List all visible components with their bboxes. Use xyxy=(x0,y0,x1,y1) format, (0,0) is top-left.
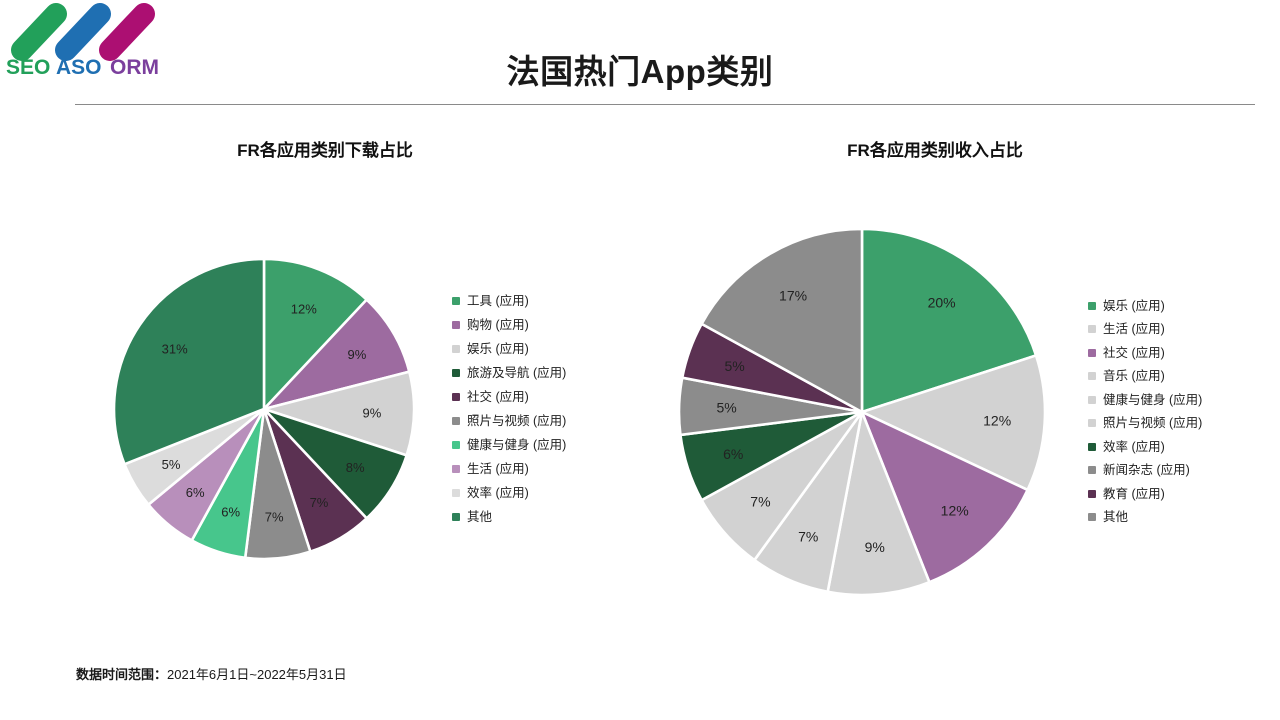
legend-swatch-icon xyxy=(1088,513,1096,521)
legend-swatch-icon xyxy=(452,441,460,449)
legend-item[interactable]: 教育 (应用) xyxy=(1088,482,1202,506)
legend-item[interactable]: 生活 (应用) xyxy=(1088,318,1202,342)
pie-slice-label: 8% xyxy=(346,460,365,475)
legend-item-label: 工具 (应用) xyxy=(467,295,529,308)
legend-item[interactable]: 生活 (应用) xyxy=(452,457,566,481)
legend-swatch-icon xyxy=(1088,372,1096,380)
legend-swatch-icon xyxy=(1088,419,1096,427)
page-title: 法国热门App类别 xyxy=(0,50,1280,94)
data-range-note: 数据时间范围：2021年6月1日~2022年5月31日 xyxy=(76,664,347,683)
pie-slice-label: 7% xyxy=(798,528,818,544)
pie-slice-label: 9% xyxy=(865,539,885,555)
pie-slice-label: 12% xyxy=(941,503,969,519)
legend-item[interactable]: 健康与健身 (应用) xyxy=(1088,388,1202,412)
title-divider xyxy=(75,104,1255,105)
pie-slice-label: 31% xyxy=(162,341,188,356)
legend-item[interactable]: 其他 xyxy=(1088,506,1202,530)
legend-item[interactable]: 照片与视频 (应用) xyxy=(452,409,566,433)
pie-slice-label: 12% xyxy=(291,302,317,317)
legend-item-label: 生活 (应用) xyxy=(467,463,529,476)
pie-slice-label: 7% xyxy=(265,510,284,525)
legend-item-label: 其他 xyxy=(1103,511,1128,524)
pie-slice-label: 6% xyxy=(723,446,743,462)
legend-item[interactable]: 旅游及导航 (应用) xyxy=(452,361,566,385)
legend-item-label: 娱乐 (应用) xyxy=(467,343,529,356)
slide-root: SEO ASO ORM 法国热门App类别 FR各应用类别下载占比 FR各应用类… xyxy=(0,0,1280,720)
legend-swatch-icon xyxy=(1088,325,1096,333)
pie-slice-label: 7% xyxy=(310,495,329,510)
legend-item-label: 效率 (应用) xyxy=(467,487,529,500)
legend-item-label: 购物 (应用) xyxy=(467,319,529,332)
pie-chart-revenue: 20%12%12%9%7%7%6%5%5%17% xyxy=(678,228,1046,596)
legend-item[interactable]: 照片与视频 (应用) xyxy=(1088,412,1202,436)
legend-item[interactable]: 社交 (应用) xyxy=(1088,341,1202,365)
data-range-value: 2021年6月1日~2022年5月31日 xyxy=(167,667,347,682)
legend-item-label: 健康与健身 (应用) xyxy=(1103,394,1202,407)
legend-item-label: 效率 (应用) xyxy=(1103,441,1165,454)
legend-item[interactable]: 社交 (应用) xyxy=(452,385,566,409)
pie-slice-label: 17% xyxy=(779,287,807,303)
legend-swatch-icon xyxy=(1088,490,1096,498)
legend-swatch-icon xyxy=(1088,466,1096,474)
legend-swatch-icon xyxy=(452,513,460,521)
legend-item[interactable]: 健康与健身 (应用) xyxy=(452,433,566,457)
legend-item[interactable]: 其他 xyxy=(452,505,566,529)
legend-swatch-icon xyxy=(452,321,460,329)
legend-item-label: 娱乐 (应用) xyxy=(1103,300,1165,313)
legend-swatch-icon xyxy=(452,393,460,401)
legend-item-label: 新闻杂志 (应用) xyxy=(1103,464,1190,477)
legend-item[interactable]: 购物 (应用) xyxy=(452,313,566,337)
pie-slice-label: 5% xyxy=(162,457,181,472)
legend-item[interactable]: 效率 (应用) xyxy=(1088,435,1202,459)
pie-slice-label: 6% xyxy=(221,505,240,520)
chart-title-revenue: FR各应用类别收入占比 xyxy=(730,136,1140,161)
legend-item-label: 教育 (应用) xyxy=(1103,488,1165,501)
pie-slice-label: 5% xyxy=(717,400,737,416)
legend-swatch-icon xyxy=(1088,302,1096,310)
legend-item-label: 社交 (应用) xyxy=(467,391,529,404)
legend-swatch-icon xyxy=(1088,396,1096,404)
pie-slice-label: 12% xyxy=(983,413,1011,429)
legend-swatch-icon xyxy=(1088,443,1096,451)
legend-item[interactable]: 娱乐 (应用) xyxy=(452,337,566,361)
legend-item[interactable]: 娱乐 (应用) xyxy=(1088,294,1202,318)
pie-slice-label: 9% xyxy=(348,347,367,362)
legend-item[interactable]: 效率 (应用) xyxy=(452,481,566,505)
legend-swatch-icon xyxy=(452,345,460,353)
pie-slice-label: 5% xyxy=(724,358,744,374)
legend-item[interactable]: 工具 (应用) xyxy=(452,289,566,313)
legend-item-label: 社交 (应用) xyxy=(1103,347,1165,360)
pie-slice-label: 9% xyxy=(363,405,382,420)
legend-swatch-icon xyxy=(452,417,460,425)
legend-item[interactable]: 音乐 (应用) xyxy=(1088,365,1202,389)
legend-swatch-icon xyxy=(1088,349,1096,357)
legend-downloads: 工具 (应用)购物 (应用)娱乐 (应用)旅游及导航 (应用)社交 (应用)照片… xyxy=(452,289,566,529)
legend-item[interactable]: 新闻杂志 (应用) xyxy=(1088,459,1202,483)
legend-item-label: 旅游及导航 (应用) xyxy=(467,367,566,380)
pie-slice-label: 6% xyxy=(186,485,205,500)
legend-swatch-icon xyxy=(452,297,460,305)
pie-slice-label: 20% xyxy=(928,294,956,310)
legend-item-label: 照片与视频 (应用) xyxy=(467,415,566,428)
legend-item-label: 照片与视频 (应用) xyxy=(1103,417,1202,430)
legend-swatch-icon xyxy=(452,465,460,473)
legend-item-label: 生活 (应用) xyxy=(1103,323,1165,336)
pie-slice-label: 7% xyxy=(750,494,770,510)
legend-item-label: 其他 xyxy=(467,511,492,524)
legend-item-label: 音乐 (应用) xyxy=(1103,370,1165,383)
legend-item-label: 健康与健身 (应用) xyxy=(467,439,566,452)
legend-swatch-icon xyxy=(452,489,460,497)
data-range-label: 数据时间范围： xyxy=(76,667,167,682)
pie-chart-downloads: 12%9%9%8%7%7%6%6%5%31% xyxy=(113,258,415,560)
legend-revenue: 娱乐 (应用)生活 (应用)社交 (应用)音乐 (应用)健康与健身 (应用)照片… xyxy=(1088,294,1202,529)
chart-title-downloads: FR各应用类别下载占比 xyxy=(120,136,530,161)
legend-swatch-icon xyxy=(452,369,460,377)
